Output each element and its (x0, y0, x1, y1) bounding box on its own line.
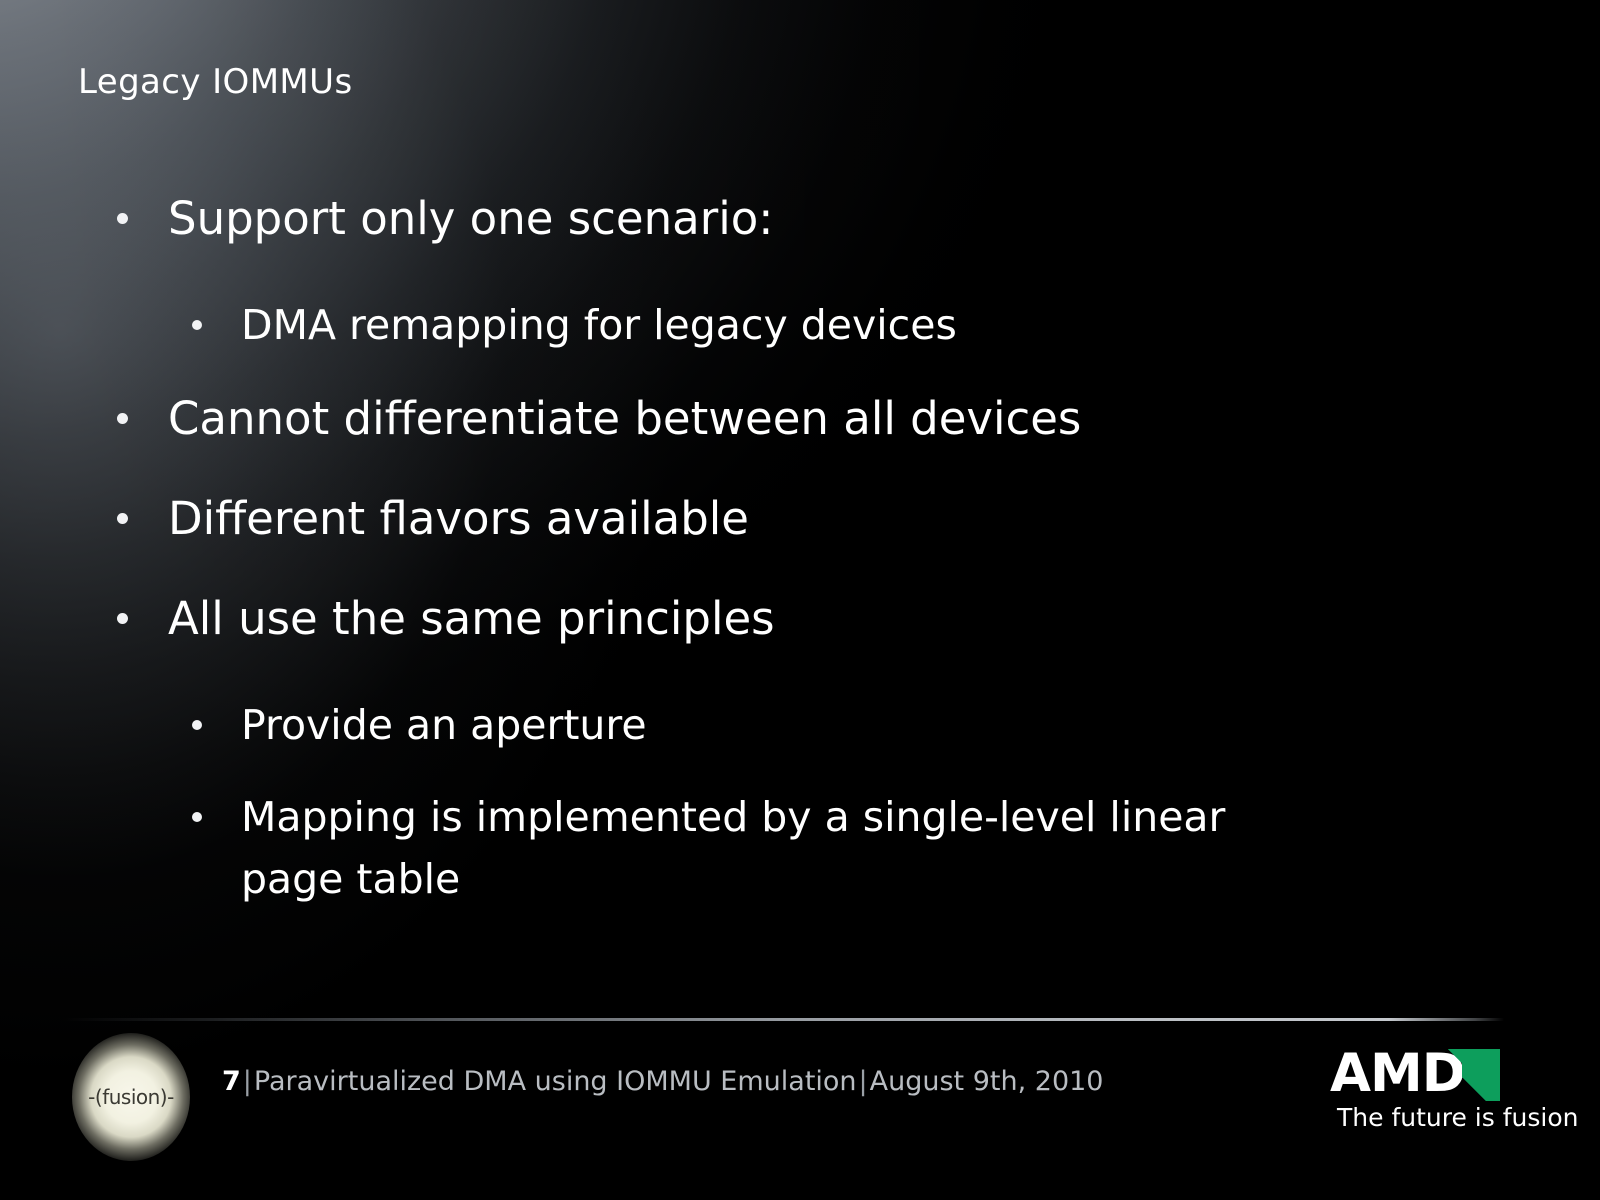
bullet-dot-icon (117, 513, 128, 524)
deck-title: Paravirtualized DMA using IOMMU Emulatio… (254, 1066, 857, 1097)
footer-date: August 9th, 2010 (870, 1066, 1104, 1097)
amd-wordmark: AMD (1330, 1046, 1465, 1102)
amd-tagline: The future is fusion (1337, 1103, 1578, 1132)
footer-separator: | (241, 1066, 254, 1097)
amd-logo: AMD The future is fusion (1330, 1046, 1510, 1132)
presentation-slide: Legacy IOMMUs Support only one scenario:… (0, 0, 1600, 1200)
slide-title: Legacy IOMMUs (78, 62, 353, 102)
spacer (0, 668, 1480, 694)
footer-divider (62, 1018, 1504, 1021)
bullet-text: Mapping is implemented by a single-level… (241, 786, 1480, 910)
bullet-item: Support only one scenario: (0, 186, 1480, 252)
spacer (0, 568, 1480, 586)
bullet-item: Provide an aperture (0, 694, 1480, 756)
bullet-dot-icon (192, 812, 202, 822)
bullet-text: Different flavors available (168, 486, 1480, 552)
bullet-dot-icon (117, 413, 128, 424)
bullet-item: Different flavors available (0, 486, 1480, 552)
bullet-text: DMA remapping for legacy devices (241, 294, 1480, 356)
spacer (0, 468, 1480, 486)
slide-body: Support only one scenario: DMA remapping… (0, 186, 1480, 922)
spacer (0, 768, 1480, 786)
amd-arrow-icon (1448, 1049, 1500, 1101)
spacer (0, 268, 1480, 294)
fusion-logo-label: -(fusion)- (72, 1085, 190, 1109)
footer-text: 7|Paravirtualized DMA using IOMMU Emulat… (222, 1066, 1103, 1097)
page-number: 7 (222, 1066, 241, 1097)
bullet-text: Cannot differentiate between all devices (168, 386, 1480, 452)
bullet-text: All use the same principles (168, 586, 1480, 652)
bullet-item: Mapping is implemented by a single-level… (0, 786, 1480, 910)
footer-separator: | (857, 1066, 870, 1097)
bullet-dot-icon (117, 613, 128, 624)
bullet-item: DMA remapping for legacy devices (0, 294, 1480, 356)
bullet-item: All use the same principles (0, 586, 1480, 652)
bullet-dot-icon (192, 720, 202, 730)
bullet-text: Provide an aperture (241, 694, 1480, 756)
bullet-dot-icon (117, 213, 128, 224)
bullet-dot-icon (192, 320, 202, 330)
bullet-item: Cannot differentiate between all devices (0, 386, 1480, 452)
bullet-text: Support only one scenario: (168, 186, 1480, 252)
fusion-logo: -(fusion)- (72, 1033, 190, 1161)
spacer (0, 368, 1480, 386)
